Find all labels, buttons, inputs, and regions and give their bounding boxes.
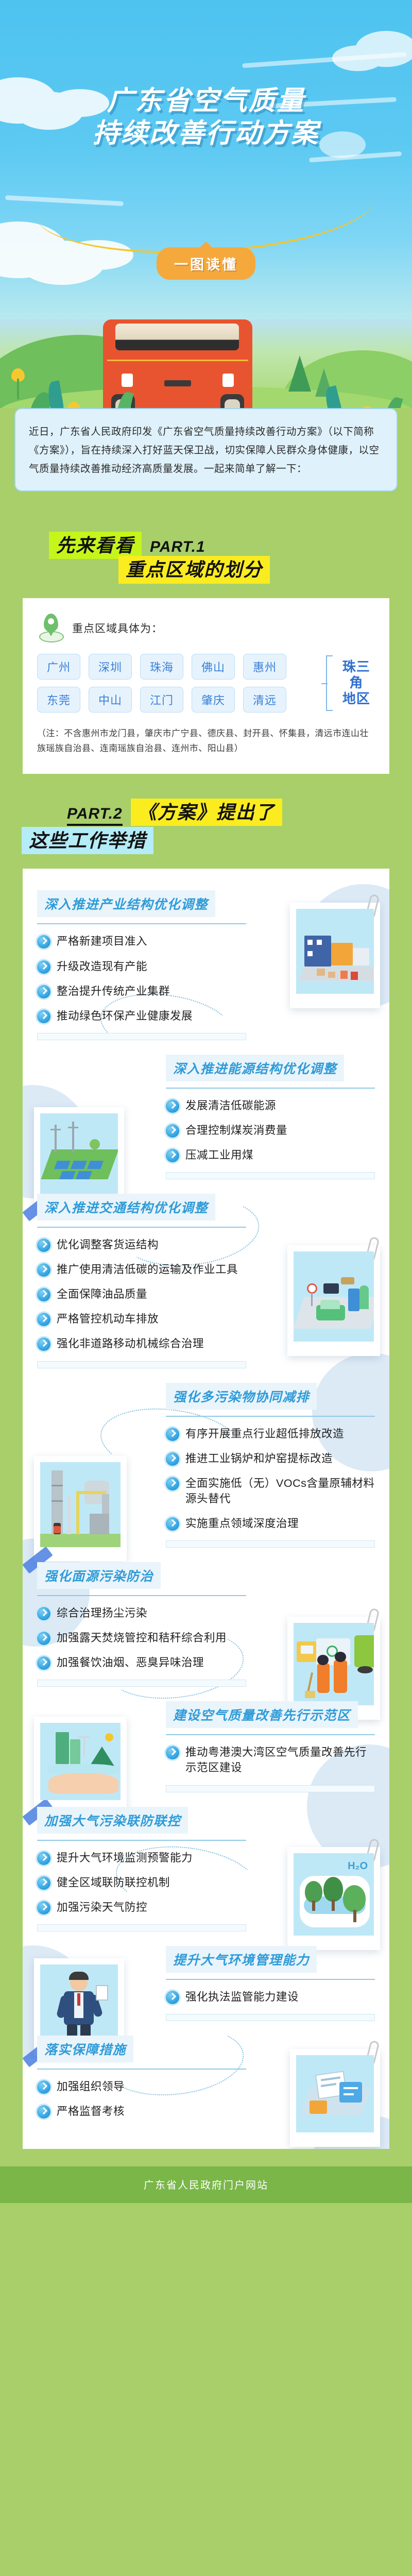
measure-item: 加强露天焚烧管控和秸秆综合利用 [37, 1630, 246, 1646]
brace-label-line2: 地区 [338, 691, 375, 707]
measure-item: 推动粤港澳大湾区空气质量改善先行示范区建设 [166, 1744, 375, 1775]
measure-item: 优化调整客货运结构 [37, 1237, 246, 1252]
measure-item-text: 提升大气环境监测预警能力 [57, 1850, 193, 1866]
hero-title: 广东省空气质量 持续改善行动方案 [0, 85, 412, 150]
measure-item: 压减工业用煤 [166, 1147, 375, 1163]
measure-item-text: 推广使用清洁低碳的运输及作业工具 [57, 1262, 238, 1277]
part1-heading-row1: 先来看看 PART.1 [0, 532, 412, 559]
hero-title-line1: 广东省空气质量 [107, 86, 305, 116]
region-header: 重点区域具体为： [37, 614, 375, 642]
hero-badge: 一图读懂 [157, 247, 255, 280]
chevron-right-icon [166, 1517, 179, 1531]
measure-item-list: 严格新建项目准入 升级改造现有产能 整治提升传统产业集群 推动绿色环保产业健康发… [37, 934, 246, 1023]
part2-heading-line2: 这些工作举措 [22, 827, 153, 854]
chevron-right-icon [37, 935, 50, 948]
measure-divider [37, 1924, 246, 1931]
cloud-streak [5, 195, 124, 206]
measure-divider [37, 1033, 246, 1040]
measure-divider [166, 1540, 375, 1548]
map-pin-icon [37, 614, 65, 642]
measure-item: 加强污染天气防控 [37, 1900, 246, 1915]
photo-card-forest-h2o: H₂O [287, 1847, 380, 1950]
part1-heading-line1: 先来看看 [49, 532, 142, 559]
bus-taillight [222, 374, 234, 387]
measure-item-text: 推动绿色环保产业健康发展 [57, 1008, 193, 1024]
measure-item-text: 严格监督考核 [57, 2104, 125, 2119]
measure-item: 全面保障油品质量 [37, 1286, 246, 1302]
measure-item-text: 严格新建项目准入 [57, 934, 147, 949]
measure-item-text: 健全区域联防联控机制 [57, 1875, 170, 1890]
measure-item-list: 综合治理扬尘污染 加强露天焚烧管控和秸秆综合利用 加强餐饮油烟、恶臭异味治理 [37, 1605, 246, 1670]
bus-window [115, 324, 239, 350]
chevron-right-icon [37, 1313, 50, 1326]
measure-item: 实施重点领域深度治理 [166, 1516, 375, 1531]
bus-stripe [107, 360, 248, 361]
measure-item-text: 加强组织领导 [57, 2079, 125, 2094]
chevron-right-icon [166, 1149, 179, 1162]
measure-item: 严格新建项目准入 [37, 934, 246, 949]
region-body: 广州 深圳 珠海 佛山 惠州 东莞 中山 江门 肇庆 清远 珠三角 地区 [37, 654, 375, 713]
part2-heading: PART.2 《方案》提出了 这些工作举措 [0, 774, 412, 869]
city-tag[interactable]: 江门 [140, 687, 183, 713]
footer-source: 广东省人民政府门户网站 [0, 2166, 412, 2203]
measure-block-8: 提升大气环境管理能力 强化执法监管能力建设 [23, 1937, 389, 2026]
measure-item-text: 推动粤港澳大湾区空气质量改善先行示范区建设 [185, 1744, 375, 1775]
measure-block-4: 强化多污染物协同减排 有序开展重点行业超低排放改造 推进工业锅炉和炉窑提标改造 … [23, 1374, 389, 1553]
illustration-documents [296, 2055, 374, 2132]
measure-item: 提升大气环境监测预警能力 [37, 1850, 246, 1866]
measure-item-text: 实施重点领域深度治理 [185, 1516, 299, 1531]
measure-item-list: 强化执法监管能力建设 [166, 1989, 375, 2005]
measure-item-text: 压减工业用煤 [185, 1147, 253, 1163]
chevron-right-icon [37, 985, 50, 998]
measure-item-list: 推动粤港澳大湾区空气质量改善先行示范区建设 [166, 1744, 375, 1775]
city-tag[interactable]: 惠州 [243, 654, 286, 680]
chevron-right-icon [166, 1428, 179, 1441]
photo-card-factory-logistics [290, 903, 380, 1008]
measure-item-text: 强化执法监管能力建设 [185, 1989, 299, 2005]
measure-divider [37, 1361, 246, 1368]
measure-divider [166, 1785, 375, 1792]
city-tag[interactable]: 清远 [243, 687, 286, 713]
illustration-factory-logistics [296, 909, 374, 994]
measure-item-text: 综合治理扬尘污染 [57, 1605, 147, 1621]
chevron-right-icon [37, 1263, 50, 1277]
intro-card: 近日，广东省人民政府印发《广东省空气质量持续改善行动方案》（以下简称《方案》），… [14, 408, 398, 492]
measure-title: 落实保障措施 [37, 2036, 133, 2062]
measure-title: 加强大气污染联防联控 [37, 1807, 188, 1834]
measure-item: 加强组织领导 [37, 2079, 246, 2094]
bus-taillight [122, 374, 133, 387]
photo-card-industrial-stack [34, 1456, 127, 1562]
city-tag-list: 广州 深圳 珠海 佛山 惠州 东莞 中山 江门 肇庆 清远 [37, 654, 323, 713]
measure-item: 整治提升传统产业集群 [37, 984, 246, 999]
chevron-right-icon [37, 1010, 50, 1023]
hero-banner: 广东省空气质量 持续改善行动方案 一图读懂 [0, 0, 412, 319]
measures-panel: 深入推进产业结构优化调整 严格新建项目准入 升级改造现有产能 整治提升传统产业集… [23, 869, 389, 2149]
illustration-ev-charging [294, 1251, 374, 1342]
city-tag[interactable]: 肇庆 [192, 687, 235, 713]
measure-item: 全面实施低（无）VOCs含量原辅材料源头替代 [166, 1476, 375, 1506]
measure-item-list: 发展清洁低碳能源 合理控制煤炭消费量 压减工业用煤 [166, 1098, 375, 1163]
chevron-right-icon [166, 1991, 179, 2004]
measure-title: 深入推进产业结构优化调整 [37, 890, 215, 917]
chevron-right-icon [37, 1288, 50, 1301]
region-brace-group: 珠三角 地区 [323, 654, 375, 713]
city-tag[interactable]: 中山 [89, 687, 132, 713]
measure-item-text: 加强露天焚烧管控和秸秆综合利用 [57, 1630, 227, 1646]
measure-item-list: 优化调整客货运结构 推广使用清洁低碳的运输及作业工具 全面保障油品质量 严格管控… [37, 1237, 246, 1351]
flower-decoration [11, 368, 25, 382]
measure-block-5: 强化面源污染防治 综合治理扬尘污染 加强露天焚烧管控和秸秆综合利用 加强餐饮油烟… [23, 1553, 389, 1692]
chevron-right-icon [166, 1452, 179, 1466]
illustration-green-city-hands [40, 1723, 121, 1800]
chevron-right-icon [37, 1239, 50, 1252]
measure-item: 合理控制煤炭消费量 [166, 1123, 375, 1138]
brace-label-line1: 珠三角 [338, 659, 375, 691]
city-tag[interactable]: 深圳 [89, 654, 132, 680]
measure-title: 提升大气环境管理能力 [166, 1946, 317, 1973]
measure-item-text: 全面实施低（无）VOCs含量原辅材料源头替代 [185, 1476, 375, 1506]
region-label: 重点区域具体为： [72, 620, 163, 636]
measure-item-text: 有序开展重点行业超低排放改造 [185, 1426, 344, 1442]
chevron-right-icon [37, 1876, 50, 1890]
part2-heading-row1: PART.2 《方案》提出了 [0, 799, 412, 826]
measure-item: 加强餐饮油烟、恶臭异味治理 [37, 1655, 246, 1670]
measure-item-text: 合理控制煤炭消费量 [185, 1123, 287, 1138]
city-tag[interactable]: 佛山 [192, 654, 235, 680]
tree-icon [288, 355, 311, 392]
part2-heading-line1: 《方案》提出了 [131, 799, 282, 826]
measure-block-1: 深入推进产业结构优化调整 严格新建项目准入 升级改造现有产能 整治提升传统产业集… [23, 881, 389, 1045]
measure-title: 建设空气质量改善先行示范区 [166, 1701, 358, 1728]
city-tag[interactable]: 珠海 [140, 654, 183, 680]
intro-section: 近日，广东省人民政府印发《广东省空气质量持续改善行动方案》（以下简称《方案》），… [0, 408, 412, 507]
chevron-right-icon [37, 1656, 50, 1670]
measure-item-text: 发展清洁低碳能源 [185, 1098, 276, 1113]
measure-item-text: 严格管控机动车排放 [57, 1311, 159, 1327]
measure-item-text: 加强污染天气防控 [57, 1900, 147, 1915]
measure-item: 推动绿色环保产业健康发展 [37, 1008, 246, 1024]
part1-heading: 先来看看 PART.1 重点区域的划分 [0, 507, 412, 598]
measure-item: 升级改造现有产能 [37, 959, 246, 974]
measure-item-list: 有序开展重点行业超低排放改造 推进工业锅炉和炉窑提标改造 全面实施低（无）VOC… [166, 1426, 375, 1531]
measure-item: 综合治理扬尘污染 [37, 1605, 246, 1621]
brace-icon [326, 655, 333, 711]
city-tag[interactable]: 广州 [37, 654, 80, 680]
chevron-right-icon [166, 1099, 179, 1113]
measure-item-list: 加强组织领导 严格监督考核 [37, 2079, 246, 2119]
brace-label: 珠三角 地区 [338, 659, 375, 707]
measure-block-2: 深入推进能源结构优化调整 发展清洁低碳能源 合理控制煤炭消费量 压减工业用煤 [23, 1045, 389, 1184]
chevron-right-icon [166, 1746, 179, 1759]
measure-item: 严格监督考核 [37, 2104, 246, 2119]
measure-item: 发展清洁低碳能源 [166, 1098, 375, 1113]
measure-divider [37, 1680, 246, 1687]
measure-item-list: 提升大气环境监测预警能力 健全区域联防联控机制 加强污染天气防控 [37, 1850, 246, 1915]
measure-item: 强化非道路移动机械综合治理 [37, 1336, 246, 1351]
measure-item-text: 全面保障油品质量 [57, 1286, 147, 1302]
measure-item-text: 推进工业锅炉和炉窑提标改造 [185, 1451, 333, 1466]
illustration-forest-h2o: H₂O [294, 1853, 374, 1936]
photo-card-ev-charging [287, 1245, 380, 1356]
part2-heading-row2: 这些工作举措 [0, 827, 412, 854]
chevron-right-icon [37, 1607, 50, 1620]
chevron-right-icon [37, 960, 50, 974]
measure-item: 健全区域联防联控机制 [37, 1875, 246, 1890]
measure-item-text: 整治提升传统产业集群 [57, 984, 170, 999]
chevron-right-icon [166, 1477, 179, 1490]
measure-item-text: 升级改造现有产能 [57, 959, 147, 974]
measure-block-3: 深入推进交通结构优化调整 优化调整客货运结构 推广使用清洁低碳的运输及作业工具 … [23, 1184, 389, 1373]
bus-plate [164, 380, 191, 386]
measure-item-text: 优化调整客货运结构 [57, 1237, 159, 1252]
measure-item: 推广使用清洁低碳的运输及作业工具 [37, 1262, 246, 1277]
measure-divider [166, 2014, 375, 2021]
photo-card-documents [290, 2049, 380, 2147]
chevron-right-icon [37, 1632, 50, 1645]
measure-item-text: 加强餐饮油烟、恶臭异味治理 [57, 1655, 204, 1670]
part1-heading-row2: 重点区域的划分 [0, 556, 412, 583]
measure-item: 推进工业锅炉和炉窑提标改造 [166, 1451, 375, 1466]
chevron-right-icon [166, 1124, 179, 1138]
measure-title: 深入推进交通结构优化调整 [37, 1194, 215, 1221]
measure-item: 强化执法监管能力建设 [166, 1989, 375, 2005]
city-tag[interactable]: 东莞 [37, 687, 80, 713]
infographic-page: 广东省空气质量 持续改善行动方案 一图读懂 [0, 0, 412, 2203]
part2-tag: PART.2 [67, 805, 123, 826]
measure-title: 强化多污染物协同减排 [166, 1383, 317, 1410]
chevron-right-icon [37, 2105, 50, 2119]
measure-item-text: 强化非道路移动机械综合治理 [57, 1336, 204, 1351]
chevron-right-icon [37, 1337, 50, 1351]
measure-block-6: 建设空气质量改善先行示范区 推动粤港澳大湾区空气质量改善先行示范区建设 [23, 1692, 389, 1797]
chevron-right-icon [37, 1852, 50, 1865]
hero-title-line2: 持续改善行动方案 [0, 117, 412, 150]
measure-block-9: 落实保障措施 加强组织领导 严格监督考核 [23, 2026, 389, 2133]
measure-item: 有序开展重点行业超低排放改造 [166, 1426, 375, 1442]
region-note: （注：不含惠州市龙门县，肇庆市广宁县、德庆县、封开县、怀集县，清远市连山壮族瑶族… [37, 726, 375, 757]
region-panel: 重点区域具体为： 广州 深圳 珠海 佛山 惠州 东莞 中山 江门 肇庆 清远 珠… [23, 598, 389, 774]
measure-title: 强化面源污染防治 [37, 1562, 161, 1589]
measure-title: 深入推进能源结构优化调整 [166, 1055, 344, 1081]
illustration-solar-power [40, 1113, 118, 1196]
cloud-decoration [355, 31, 412, 67]
chevron-right-icon [37, 2080, 50, 2094]
measure-divider [166, 1172, 375, 1179]
chevron-right-icon [37, 1901, 50, 1914]
measure-block-7: 加强大气污染联防联控 提升大气环境监测预警能力 健全区域联防联控机制 加强污染天… [23, 1798, 389, 1937]
part1-heading-line2: 重点区域的划分 [118, 556, 270, 583]
measure-item: 严格管控机动车排放 [37, 1311, 246, 1327]
illustration-industrial-stack [40, 1462, 121, 1547]
